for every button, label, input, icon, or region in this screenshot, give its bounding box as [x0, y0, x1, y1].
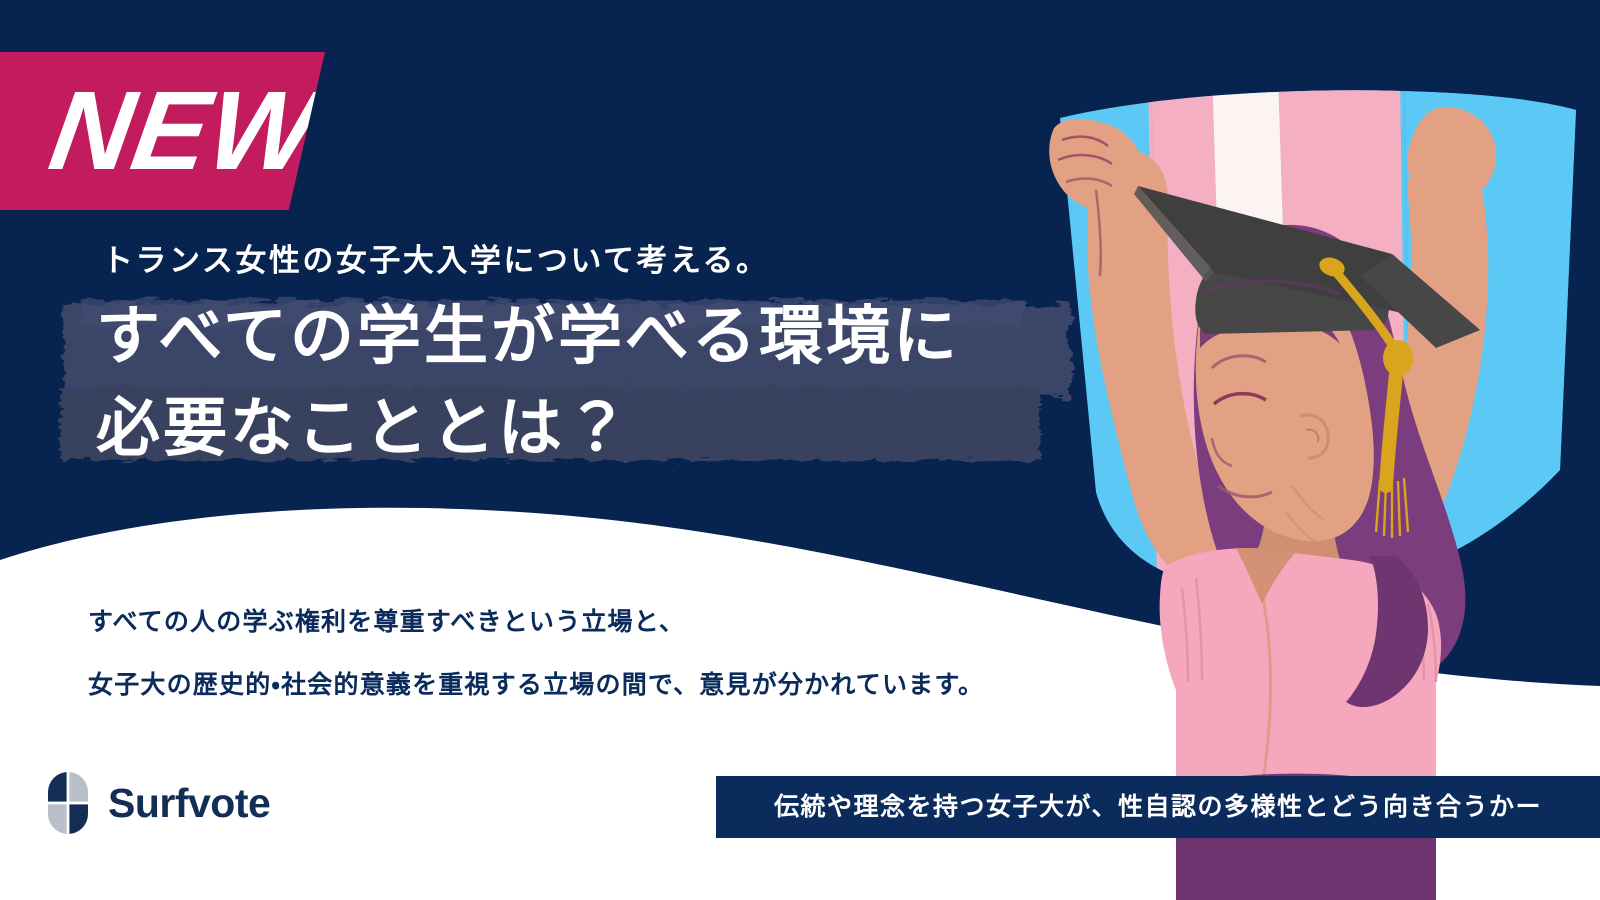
graduate-with-flag-illustration: [1000, 0, 1600, 900]
headline-title-line-1: すべての学生が学べる環境に: [96, 296, 1016, 378]
banner-canvas: NEW トランス女性の女子大入学について考える。: [0, 0, 1600, 900]
headline-kicker: トランス女性の女子大入学について考える。: [102, 240, 1016, 282]
bottom-banner-label: 伝統や理念を持つ女子大が、性自認の多様性とどう向き合うかー: [774, 795, 1542, 820]
surfvote-logo[interactable]: Surfvote: [48, 772, 270, 834]
bottom-banner: 伝統や理念を持つ女子大が、性自認の多様性とどう向き合うかー: [716, 776, 1600, 838]
new-badge: NEW: [0, 52, 325, 210]
headline-block: トランス女性の女子大入学について考える。: [96, 240, 1016, 470]
body-copy-line-2: 女子大の歴史的・社会的意義を重視する立場の間で、意見が分かれています。: [88, 671, 984, 700]
body-copy-block: すべての人の学ぶ権利を尊重すべきという立場と、 女子大の歴史的・社会的意義を重視…: [88, 608, 984, 700]
new-badge-label: NEW: [43, 75, 325, 187]
surfvote-logo-icon: [48, 772, 88, 834]
headline-title-line-2: 必要なこととは？: [96, 388, 1016, 470]
body-copy-line-1: すべての人の学ぶ権利を尊重すべきという立場と、: [88, 608, 984, 637]
surfvote-logo-wordmark: Surfvote: [108, 783, 270, 824]
